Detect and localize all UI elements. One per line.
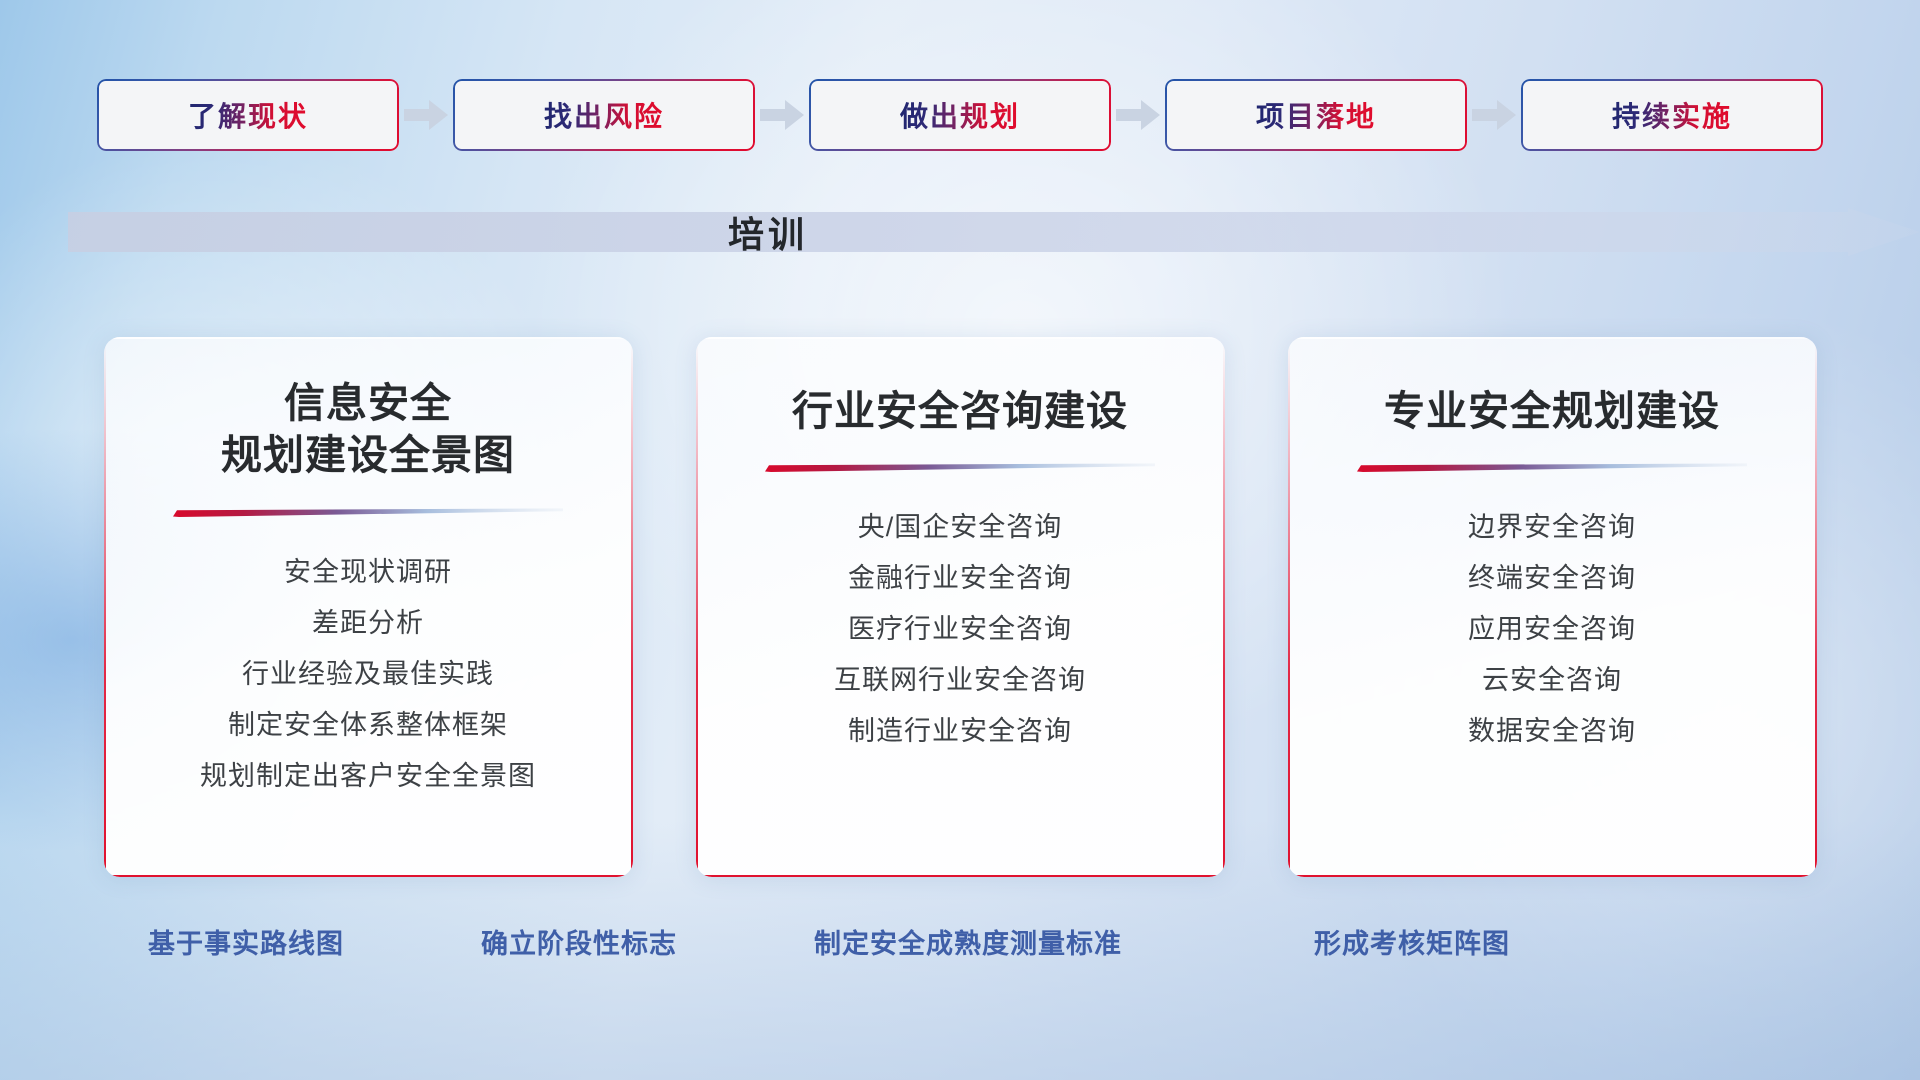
card-professional-security-planning[interactable]: 专业安全规划建设 边界安全咨询 终端安全咨询 应用安全咨询 [1288, 337, 1817, 877]
card-2-item-list: 央/国企安全咨询 金融行业安全咨询 医疗行业安全咨询 互联网行业安全咨询 制造行… [696, 472, 1225, 757]
process-step-1[interactable]: 了解现状 [97, 79, 399, 151]
card-3-title: 专业安全规划建设 [1288, 337, 1817, 437]
card-1-title-line1: 信息安全 [284, 380, 452, 426]
card-industry-security-consulting[interactable]: 行业安全咨询建设 央/国企安全咨询 金融行业安全咨询 医疗行业安 [696, 337, 1225, 877]
list-item: 医疗行业安全咨询 [716, 604, 1205, 655]
cards-row: 信息安全 规划建设全景图 安全现状调研 差距分析 行 [0, 337, 1920, 877]
process-step-3[interactable]: 做出规划 [809, 79, 1111, 151]
process-step-1-label: 了解现状 [188, 95, 308, 135]
card-3-item-list: 边界安全咨询 终端安全咨询 应用安全咨询 云安全咨询 数据安全咨询 [1288, 472, 1817, 757]
list-item: 规划制定出客户安全全景图 [124, 751, 613, 802]
list-item: 制定安全体系整体框架 [124, 700, 613, 751]
list-item: 互联网行业安全咨询 [716, 655, 1205, 706]
gradient-divider-icon [765, 463, 1155, 472]
card-bottom-accent [104, 875, 633, 878]
bottom-label-2: 确立阶段性标志 [481, 922, 677, 961]
bottom-label-1: 基于事实路线图 [148, 922, 344, 961]
list-item: 安全现状调研 [124, 547, 613, 598]
process-step-2-label: 找出风险 [544, 95, 664, 135]
list-item: 边界安全咨询 [1308, 502, 1797, 553]
process-step-strip: 了解现状 找出风险 做出规划 项目落地 持续实施 [0, 78, 1920, 152]
card-bottom-accent [696, 875, 1225, 878]
process-arrow-4 [1467, 100, 1521, 130]
process-step-2[interactable]: 找出风险 [453, 79, 755, 151]
process-step-4-label: 项目落地 [1256, 95, 1376, 135]
list-item: 差距分析 [124, 598, 613, 649]
process-step-4[interactable]: 项目落地 [1165, 79, 1467, 151]
bottom-label-3: 制定安全成熟度测量标准 [814, 922, 1122, 961]
list-item: 央/国企安全咨询 [716, 502, 1205, 553]
list-item: 终端安全咨询 [1308, 553, 1797, 604]
process-step-5[interactable]: 持续实施 [1521, 79, 1823, 151]
card-1-item-list: 安全现状调研 差距分析 行业经验及最佳实践 制定安全体系整体框架 规划制定出客户… [104, 517, 633, 802]
process-arrow-1 [399, 100, 453, 130]
training-label: 培训 [728, 206, 808, 258]
card-info-security-blueprint[interactable]: 信息安全 规划建设全景图 安全现状调研 差距分析 行 [104, 337, 633, 877]
list-item: 金融行业安全咨询 [716, 553, 1205, 604]
card-2-title: 行业安全咨询建设 [696, 337, 1225, 437]
gradient-divider-icon [1357, 463, 1747, 472]
list-item: 行业经验及最佳实践 [124, 649, 613, 700]
process-arrow-2 [755, 100, 809, 130]
process-arrow-3 [1111, 100, 1165, 130]
card-1-title: 信息安全 规划建设全景图 [104, 337, 633, 482]
list-item: 应用安全咨询 [1308, 604, 1797, 655]
gradient-divider-icon [173, 508, 563, 517]
list-item: 云安全咨询 [1308, 655, 1797, 706]
card-1-title-line2: 规划建设全景图 [221, 432, 515, 478]
bottom-label-row: 基于事实路线图 确立阶段性标志 制定安全成熟度测量标准 形成考核矩阵图 [0, 922, 1920, 966]
card-bottom-accent [1288, 875, 1817, 878]
list-item: 制造行业安全咨询 [716, 706, 1205, 757]
bottom-label-4: 形成考核矩阵图 [1314, 922, 1510, 961]
card-3-title-line1: 专业安全规划建设 [1384, 388, 1720, 434]
card-2-title-line1: 行业安全咨询建设 [792, 388, 1128, 434]
process-step-5-label: 持续实施 [1612, 95, 1732, 135]
list-item: 数据安全咨询 [1308, 706, 1797, 757]
training-label-wrap: 培训 [0, 208, 1536, 256]
process-step-3-label: 做出规划 [900, 95, 1020, 135]
